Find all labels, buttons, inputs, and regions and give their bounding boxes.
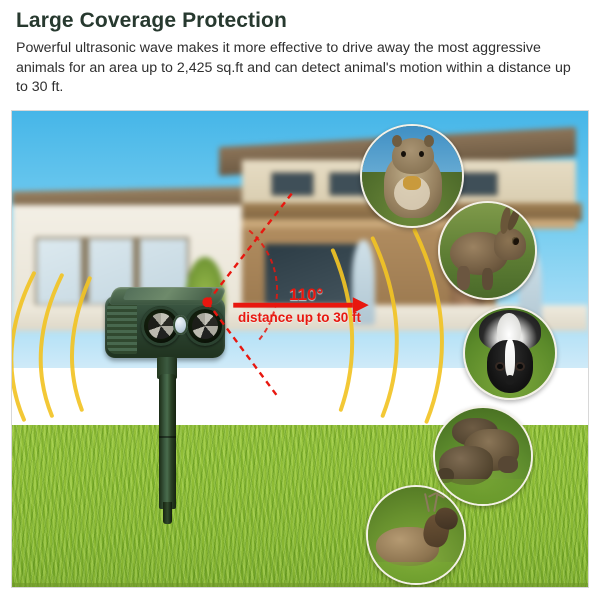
angle-label: 110° [289, 285, 323, 305]
skunk-back-stripe [505, 339, 516, 379]
speaker-grille [185, 306, 225, 346]
rabbit-leg [482, 268, 493, 291]
description-text: Powerful ultrasonic wave makes it more e… [16, 39, 576, 98]
page-title: Large Coverage Protection [16, 9, 287, 33]
ground-stake [159, 374, 176, 509]
skunk-eye [497, 364, 502, 369]
squirrel-ear [424, 135, 434, 147]
rabbit-leg [457, 266, 470, 291]
product-feature-card: Large Coverage Protection Powerful ultra… [0, 0, 600, 600]
device-side-ribs [107, 300, 137, 354]
elk-photo [368, 487, 464, 583]
pir-motion-sensor [173, 315, 188, 335]
stake-tip [163, 502, 172, 524]
squirrel-nut [403, 176, 421, 190]
elk-grass [368, 562, 464, 583]
animal-circle-skunk [463, 306, 557, 400]
wave-arc-left-2 [41, 275, 62, 415]
squirrel-eye [419, 151, 424, 157]
animal-circle-rabbit [438, 201, 537, 300]
rabbit-eye [512, 237, 519, 245]
solar-panel [123, 288, 214, 300]
squirrel-eye [401, 151, 406, 157]
header-section: Large Coverage Protection Powerful ultra… [0, 0, 600, 110]
wave-arc-left-1 [72, 278, 90, 409]
stake-seam [159, 436, 176, 438]
skunk-photo [465, 308, 555, 398]
speaker-cone [148, 313, 174, 339]
elk-antler [437, 493, 445, 499]
wave-arc-right-2 [373, 238, 397, 415]
wave-arc-left-3 [12, 273, 34, 419]
wave-arc-right-1 [333, 250, 352, 409]
animal-circle-elk [366, 485, 466, 585]
distance-label: distance up to 30 ft [238, 310, 361, 325]
rabbit-photo [440, 203, 535, 298]
squirrel-ear [392, 135, 402, 147]
speaker-cone [192, 313, 218, 339]
ultrasonic-repeller-device [97, 274, 237, 514]
skunk-eye [517, 364, 522, 369]
product-scene-photo: 110° distance up to 30 ft [11, 110, 589, 588]
rabbit-head [494, 228, 526, 260]
boar-snout [498, 456, 517, 473]
